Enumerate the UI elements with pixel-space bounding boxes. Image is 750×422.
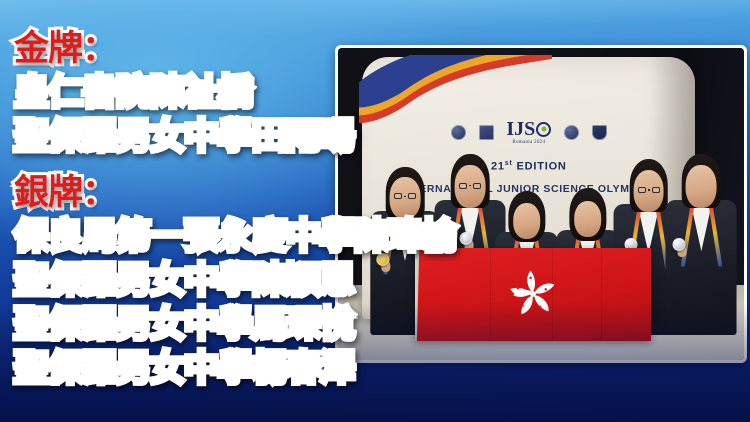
news-graphic-stage: IJS Romania 2024 21st EDITION INTERNATIO… xyxy=(0,0,750,422)
gold-winner-2: 聖保羅男女中學田雨暘 xyxy=(14,108,354,159)
medal-list-overlay: 金牌： 皇仁書院陳祉橋 聖保羅男女中學田雨暘 銀牌： 保良局第一張永慶中學陳瑋榆… xyxy=(0,0,750,422)
silver-winner-4: 聖保羅男女中學楊春澤 xyxy=(14,340,354,391)
